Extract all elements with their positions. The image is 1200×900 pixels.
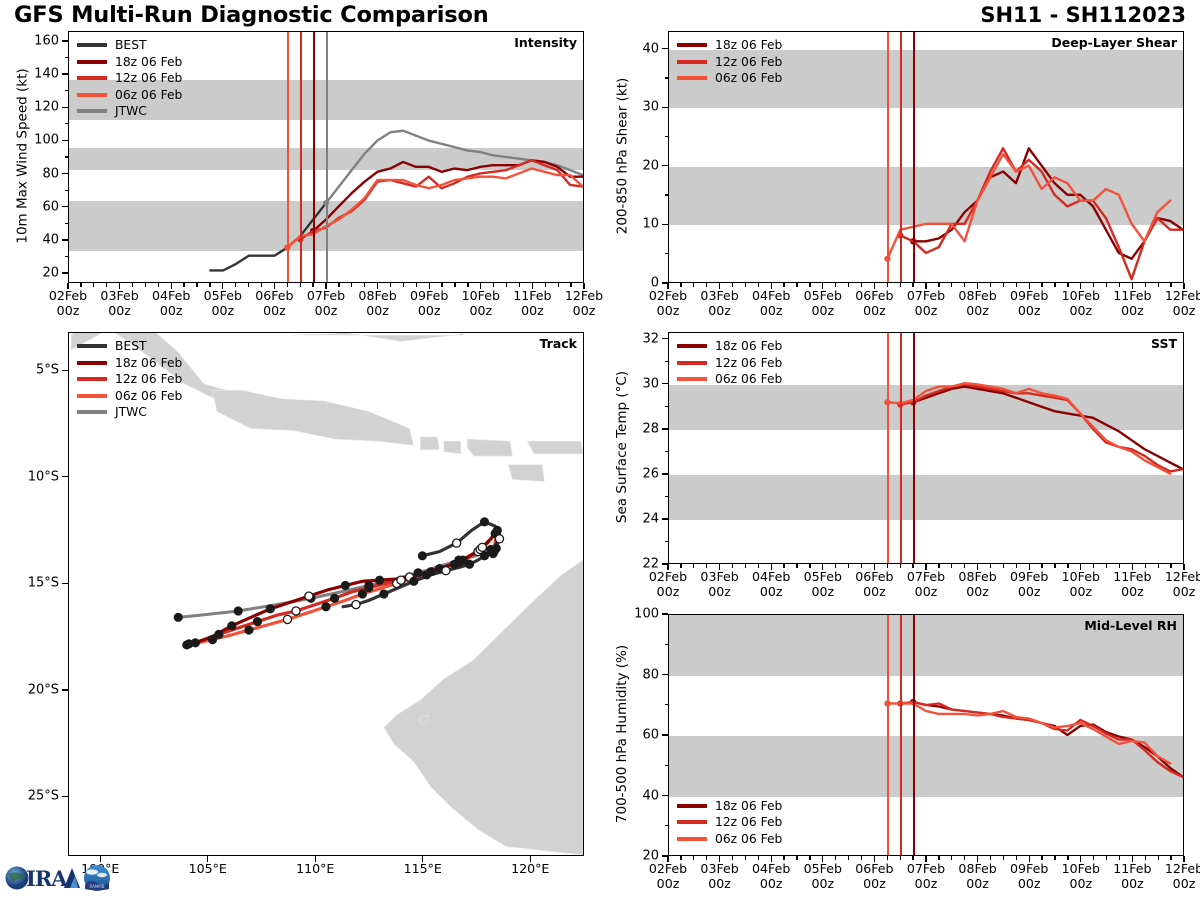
x-minor-tick <box>900 564 901 568</box>
x-minor-tick <box>1003 856 1004 860</box>
y-minor-tick <box>665 644 669 645</box>
x-tick-label: 06Feb00z <box>855 861 893 891</box>
init-time-line <box>326 32 328 282</box>
lat-tick-label: 5°S <box>0 363 59 378</box>
x-tick-date: 07Feb <box>907 569 945 584</box>
x-minor-tick <box>706 856 707 860</box>
x-minor-tick <box>1093 564 1094 568</box>
track-position-marker <box>492 544 500 552</box>
x-minor-tick <box>680 283 681 287</box>
x-minor-tick <box>951 283 952 287</box>
x-minor-tick <box>912 564 913 568</box>
x-tick-mark <box>667 856 668 862</box>
x-minor-tick <box>1145 564 1146 568</box>
x-tick-mark <box>667 283 668 289</box>
x-tick-date: 12Feb <box>1165 569 1200 584</box>
x-minor-tick <box>912 283 913 287</box>
legend-label-06z: 06z 06 Feb <box>715 832 782 846</box>
x-tick-mark <box>377 283 378 289</box>
legend-item-best: BEST <box>77 37 182 54</box>
legend-swatch-06z <box>677 377 707 381</box>
track-position-marker <box>253 618 261 626</box>
x-minor-tick <box>835 856 836 860</box>
x-minor-tick <box>1093 283 1094 287</box>
x-tick-label: 12Feb00z <box>1165 288 1200 318</box>
track-position-marker <box>228 622 236 630</box>
x-minor-tick <box>338 283 339 287</box>
y-minor-tick <box>65 223 69 224</box>
legend-item-12z: 12z 06 Feb <box>77 70 182 87</box>
track-position-marker <box>365 584 373 592</box>
y-tick-mark <box>662 674 668 675</box>
series-line <box>913 387 1183 470</box>
track-position-marker <box>330 594 338 602</box>
track-position-marker <box>352 601 360 609</box>
x-tick-mark <box>67 283 68 289</box>
legend-item-06z: 06z 06 Feb <box>677 831 782 848</box>
x-minor-tick <box>1003 283 1004 287</box>
lat-tick-label: 10°S <box>0 469 59 484</box>
x-tick-hour: 00z <box>513 303 551 318</box>
x-tick-date: 06Feb <box>855 861 893 876</box>
track-position-marker <box>341 581 349 589</box>
x-tick-hour: 00z <box>1165 303 1200 318</box>
x-minor-tick <box>493 283 494 287</box>
x-tick-mark <box>1080 283 1081 289</box>
x-minor-tick <box>364 283 365 287</box>
x-tick-hour: 00z <box>649 584 687 599</box>
x-minor-tick <box>1054 283 1055 287</box>
y-tick-mark <box>62 239 68 240</box>
x-tick-mark <box>874 283 875 289</box>
x-minor-tick <box>506 283 507 287</box>
track-position-marker <box>427 568 435 576</box>
track-position-marker <box>375 576 383 584</box>
legend-item-18z: 18z 06 Feb <box>677 37 782 54</box>
x-tick-label: 05Feb00z <box>204 288 242 318</box>
y-tick-mark <box>662 165 668 166</box>
x-minor-tick <box>1016 283 1017 287</box>
track-position-marker <box>414 569 422 577</box>
x-tick-date: 10Feb <box>462 288 500 303</box>
x-minor-tick <box>1119 856 1120 860</box>
x-minor-tick <box>693 283 694 287</box>
x-minor-tick <box>209 283 210 287</box>
x-tick-date: 08Feb <box>958 861 996 876</box>
lat-tick-mark <box>62 476 68 477</box>
x-tick-date: 12Feb <box>1165 288 1200 303</box>
x-tick-hour: 00z <box>855 876 893 891</box>
lon-tick-label: 105°E <box>189 861 227 876</box>
x-minor-tick <box>990 564 991 568</box>
legend-swatch-06z <box>677 837 707 841</box>
svg-text:RAMMB: RAMMB <box>90 884 105 889</box>
legend-label-18z: 18z 06 Feb <box>115 356 182 370</box>
x-minor-tick <box>758 564 759 568</box>
lat-tick-mark <box>62 583 68 584</box>
legend-label-best: BEST <box>115 38 147 52</box>
legend-swatch-jtwc <box>77 410 107 414</box>
intensity-title: Intensity <box>514 35 577 50</box>
y-minor-tick <box>65 190 69 191</box>
legend-swatch-18z <box>77 361 107 365</box>
track-position-marker <box>234 607 242 615</box>
legend-label-18z: 18z 06 Feb <box>715 799 782 813</box>
x-tick-mark <box>771 564 772 570</box>
x-minor-tick <box>1054 564 1055 568</box>
x-tick-mark <box>1029 564 1030 570</box>
x-tick-label: 06Feb00z <box>855 288 893 318</box>
track-position-marker <box>465 560 473 568</box>
y-minor-tick <box>665 406 669 407</box>
legend-label-06z: 06z 06 Feb <box>715 71 782 85</box>
x-tick-date: 05Feb <box>204 288 242 303</box>
x-minor-tick <box>887 283 888 287</box>
x-tick-label: 11Feb00z <box>1113 861 1151 891</box>
x-tick-date: 12Feb <box>1165 861 1200 876</box>
x-tick-date: 10Feb <box>1062 288 1100 303</box>
y-tick-mark <box>662 224 668 225</box>
track-legend: BEST 18z 06 Feb 12z 06 Feb 06z 06 Feb JT… <box>77 338 182 421</box>
lon-tick-mark <box>422 856 423 862</box>
x-minor-tick <box>912 856 913 860</box>
x-minor-tick <box>848 283 849 287</box>
x-tick-date: 03Feb <box>700 569 738 584</box>
lat-tick-label: 15°S <box>0 576 59 591</box>
legend-swatch-18z <box>677 344 707 348</box>
x-minor-tick <box>467 283 468 287</box>
shear-y-axis-label: 200-850 hPa Shear (kt) <box>614 78 630 235</box>
y-tick-mark <box>662 383 668 384</box>
x-tick-mark <box>977 564 978 570</box>
x-tick-hour: 00z <box>565 303 603 318</box>
x-tick-date: 06Feb <box>855 288 893 303</box>
x-tick-hour: 00z <box>1113 876 1151 891</box>
x-tick-hour: 00z <box>700 584 738 599</box>
init-time-line <box>887 333 889 563</box>
x-tick-date: 07Feb <box>307 288 345 303</box>
legend-swatch-12z <box>677 820 707 824</box>
x-tick-date: 06Feb <box>855 569 893 584</box>
legend-swatch-12z <box>677 60 707 64</box>
x-tick-date: 07Feb <box>907 288 945 303</box>
x-minor-tick <box>1106 856 1107 860</box>
x-tick-mark <box>1080 564 1081 570</box>
x-tick-mark <box>1029 856 1030 862</box>
x-tick-mark <box>1183 856 1184 862</box>
x-minor-tick <box>848 856 849 860</box>
x-tick-mark <box>480 283 481 289</box>
rh-legend: 18z 06 Feb 12z 06 Feb 06z 06 Feb <box>677 798 782 848</box>
x-tick-hour: 00z <box>204 303 242 318</box>
x-tick-mark <box>977 856 978 862</box>
panel-intensity: Intensity BEST 18z 06 Feb 12z 06 Feb 06z… <box>68 31 584 283</box>
x-minor-tick <box>938 564 939 568</box>
x-tick-hour: 00z <box>752 876 790 891</box>
x-tick-hour: 00z <box>804 584 842 599</box>
x-minor-tick <box>1067 856 1068 860</box>
x-tick-mark <box>925 564 926 570</box>
x-minor-tick <box>545 283 546 287</box>
intensity-plot-area: Intensity BEST 18z 06 Feb 12z 06 Feb 06z… <box>68 31 584 283</box>
x-tick-mark <box>1029 283 1030 289</box>
x-tick-label: 11Feb00z <box>1113 569 1151 599</box>
x-tick-label: 03Feb00z <box>100 288 138 318</box>
x-minor-tick <box>1106 283 1107 287</box>
x-minor-tick <box>1106 564 1107 568</box>
legend-label-jtwc: JTWC <box>115 104 147 118</box>
legend-swatch-06z <box>77 394 107 398</box>
x-tick-date: 03Feb <box>700 861 738 876</box>
x-minor-tick <box>887 856 888 860</box>
x-minor-tick <box>1016 856 1017 860</box>
x-tick-date: 04Feb <box>752 861 790 876</box>
x-minor-tick <box>1170 564 1171 568</box>
x-minor-tick <box>183 283 184 287</box>
x-tick-label: 11Feb00z <box>1113 288 1151 318</box>
x-tick-hour: 00z <box>152 303 190 318</box>
x-tick-hour: 00z <box>1113 584 1151 599</box>
x-tick-date: 07Feb <box>907 861 945 876</box>
x-tick-date: 11Feb <box>1113 861 1151 876</box>
lon-tick-label: 110°E <box>296 861 334 876</box>
x-tick-label: 08Feb00z <box>958 288 996 318</box>
init-time-line <box>900 32 902 282</box>
x-tick-label: 08Feb00z <box>958 569 996 599</box>
init-time-line <box>287 32 289 282</box>
x-minor-tick <box>964 856 965 860</box>
x-minor-tick <box>809 856 810 860</box>
x-tick-label: 07Feb00z <box>907 288 945 318</box>
x-minor-tick <box>887 564 888 568</box>
x-tick-date: 04Feb <box>152 288 190 303</box>
x-tick-date: 04Feb <box>752 569 790 584</box>
y-tick-mark <box>62 73 68 74</box>
y-tick-mark <box>662 518 668 519</box>
legend-item-18z: 18z 06 Feb <box>677 798 782 815</box>
sst-plot-area: SST 18z 06 Feb 12z 06 Feb 06z 06 Feb <box>668 332 1184 564</box>
x-minor-tick <box>1054 856 1055 860</box>
x-minor-tick <box>158 283 159 287</box>
panel-shear: Deep-Layer Shear 18z 06 Feb 12z 06 Feb 0… <box>668 31 1184 283</box>
x-tick-label: 09Feb00z <box>1010 569 1048 599</box>
y-minor-tick <box>65 123 69 124</box>
x-tick-label: 07Feb00z <box>907 861 945 891</box>
x-minor-tick <box>809 564 810 568</box>
y-minor-tick <box>665 77 669 78</box>
x-minor-tick <box>900 856 901 860</box>
track-position-marker <box>380 590 388 598</box>
x-tick-mark <box>1132 564 1133 570</box>
series-line <box>887 154 1170 259</box>
x-tick-label: 12Feb00z <box>1165 569 1200 599</box>
y-tick-mark <box>662 48 668 49</box>
init-time-line <box>913 333 915 563</box>
x-tick-date: 02Feb <box>649 288 687 303</box>
y-tick-label: 40 <box>599 41 659 56</box>
track-position-marker <box>305 592 313 600</box>
x-tick-label: 04Feb00z <box>752 861 790 891</box>
rh-plot-area: Mid-Level RH 18z 06 Feb 12z 06 Feb 06z 0… <box>668 614 1184 856</box>
legend-item-12z: 12z 06 Feb <box>677 54 782 71</box>
x-tick-label: 04Feb00z <box>152 288 190 318</box>
x-minor-tick <box>454 283 455 287</box>
track-position-marker <box>292 607 300 615</box>
lon-tick-value: 120°E <box>511 861 549 876</box>
x-minor-tick <box>1170 283 1171 287</box>
x-tick-hour: 00z <box>700 876 738 891</box>
x-tick-label: 06Feb00z <box>855 569 893 599</box>
legend-swatch-06z <box>677 76 707 80</box>
shear-plot-area: Deep-Layer Shear 18z 06 Feb 12z 06 Feb 0… <box>668 31 1184 283</box>
x-tick-date: 09Feb <box>410 288 448 303</box>
legend-label-18z: 18z 06 Feb <box>715 339 782 353</box>
y-tick-mark <box>62 206 68 207</box>
legend-swatch-12z <box>77 76 107 80</box>
x-tick-hour: 00z <box>855 303 893 318</box>
x-tick-mark <box>874 856 875 862</box>
x-minor-tick <box>835 564 836 568</box>
storm-identifier: SH11 - SH112023 <box>980 3 1186 27</box>
x-minor-tick <box>964 283 965 287</box>
x-minor-tick <box>1041 283 1042 287</box>
legend-item-06z: 06z 06 Feb <box>77 388 182 405</box>
diagnostic-dashboard: GFS Multi-Run Diagnostic Comparison SH11… <box>0 0 1200 900</box>
x-tick-hour: 00z <box>907 303 945 318</box>
x-tick-mark <box>719 856 720 862</box>
legend-item-06z: 06z 06 Feb <box>77 87 182 104</box>
x-tick-hour: 00z <box>1010 303 1048 318</box>
track-position-marker <box>410 577 418 585</box>
track-position-marker <box>495 535 503 543</box>
track-position-marker <box>493 526 501 534</box>
y-minor-tick <box>665 541 669 542</box>
x-tick-label: 03Feb00z <box>700 861 738 891</box>
x-tick-hour: 00z <box>907 584 945 599</box>
legend-label-12z: 12z 06 Feb <box>715 815 782 829</box>
x-tick-label: 04Feb00z <box>752 569 790 599</box>
x-tick-hour: 00z <box>649 303 687 318</box>
intensity-y-axis-label: 10m Max Wind Speed (kt) <box>14 68 30 243</box>
x-minor-tick <box>1041 564 1042 568</box>
x-minor-tick <box>938 283 939 287</box>
intensity-legend: BEST 18z 06 Feb 12z 06 Feb 06z 06 Feb JT… <box>77 37 182 120</box>
y-tick-mark <box>662 734 668 735</box>
legend-swatch-18z <box>677 804 707 808</box>
lat-tick-mark <box>62 689 68 690</box>
lon-tick-label: 120°E <box>511 861 549 876</box>
lon-tick-mark <box>315 856 316 862</box>
legend-swatch-06z <box>77 93 107 97</box>
y-minor-tick <box>65 156 69 157</box>
x-minor-tick <box>1119 564 1120 568</box>
y-minor-tick <box>65 57 69 58</box>
track-position-marker <box>442 567 450 575</box>
x-tick-date: 08Feb <box>958 288 996 303</box>
panel-track: Track BEST 18z 06 Feb 12z 06 Feb 06z 06 … <box>68 332 584 856</box>
track-position-marker <box>191 639 199 647</box>
shear-title: Deep-Layer Shear <box>1051 35 1177 50</box>
x-minor-tick <box>861 856 862 860</box>
track-position-marker <box>453 539 461 547</box>
sst-title: SST <box>1151 336 1177 351</box>
init-time-line <box>887 32 889 282</box>
x-minor-tick <box>745 283 746 287</box>
x-minor-tick <box>248 283 249 287</box>
y-tick-mark <box>662 338 668 339</box>
x-minor-tick <box>848 564 849 568</box>
legend-label-12z: 12z 06 Feb <box>115 372 182 386</box>
x-tick-label: 09Feb00z <box>1010 861 1048 891</box>
init-time-line <box>300 32 302 282</box>
lon-tick-mark <box>207 856 208 862</box>
x-minor-tick <box>951 564 952 568</box>
legend-item-jtwc: JTWC <box>77 103 182 120</box>
rh-y-axis-label: 700-500 hPa Humidity (%) <box>614 645 630 823</box>
x-minor-tick <box>706 283 707 287</box>
svg-text:IRA: IRA <box>26 866 68 891</box>
x-tick-mark <box>874 564 875 570</box>
x-tick-date: 09Feb <box>1010 569 1048 584</box>
x-tick-label: 05Feb00z <box>804 569 842 599</box>
x-minor-tick <box>990 283 991 287</box>
x-tick-mark <box>667 564 668 570</box>
x-tick-date: 11Feb <box>1113 569 1151 584</box>
x-minor-tick <box>835 283 836 287</box>
x-tick-date: 12Feb <box>565 288 603 303</box>
x-tick-mark <box>925 283 926 289</box>
lon-tick-value: 110°E <box>296 861 334 876</box>
x-tick-hour: 00z <box>1010 876 1048 891</box>
x-tick-mark <box>532 283 533 289</box>
init-time-line <box>900 615 902 855</box>
x-tick-date: 05Feb <box>804 861 842 876</box>
x-minor-tick <box>312 283 313 287</box>
track-position-marker <box>283 615 291 623</box>
x-tick-hour: 00z <box>307 303 345 318</box>
x-tick-label: 07Feb00z <box>907 569 945 599</box>
track-plot-area: Track BEST 18z 06 Feb 12z 06 Feb 06z 06 … <box>68 332 584 856</box>
y-tick-mark <box>662 795 668 796</box>
x-tick-label: 03Feb00z <box>700 288 738 318</box>
x-minor-tick <box>93 283 94 287</box>
track-position-marker <box>245 626 253 634</box>
legend-label-06z: 06z 06 Feb <box>115 389 182 403</box>
x-minor-tick <box>745 564 746 568</box>
panel-rh: Mid-Level RH 18z 06 Feb 12z 06 Feb 06z 0… <box>668 614 1184 856</box>
init-time-line <box>913 615 915 855</box>
y-tick-mark <box>662 428 668 429</box>
x-tick-mark <box>1183 283 1184 289</box>
y-minor-tick <box>665 451 669 452</box>
x-tick-mark <box>771 283 772 289</box>
series-line <box>887 704 1170 764</box>
x-minor-tick <box>416 283 417 287</box>
lat-tick-mark <box>62 796 68 797</box>
lon-tick-value: 115°E <box>404 861 442 876</box>
x-minor-tick <box>1158 283 1159 287</box>
x-minor-tick <box>351 283 352 287</box>
legend-item-18z: 18z 06 Feb <box>77 54 182 71</box>
lon-tick-mark <box>530 856 531 862</box>
x-minor-tick <box>403 283 404 287</box>
x-tick-label: 12Feb00z <box>565 288 603 318</box>
x-minor-tick <box>1041 856 1042 860</box>
y-tick-label: 20 <box>0 266 59 281</box>
legend-swatch-18z <box>677 43 707 47</box>
x-minor-tick <box>861 564 862 568</box>
legend-label-jtwc: JTWC <box>115 405 147 419</box>
